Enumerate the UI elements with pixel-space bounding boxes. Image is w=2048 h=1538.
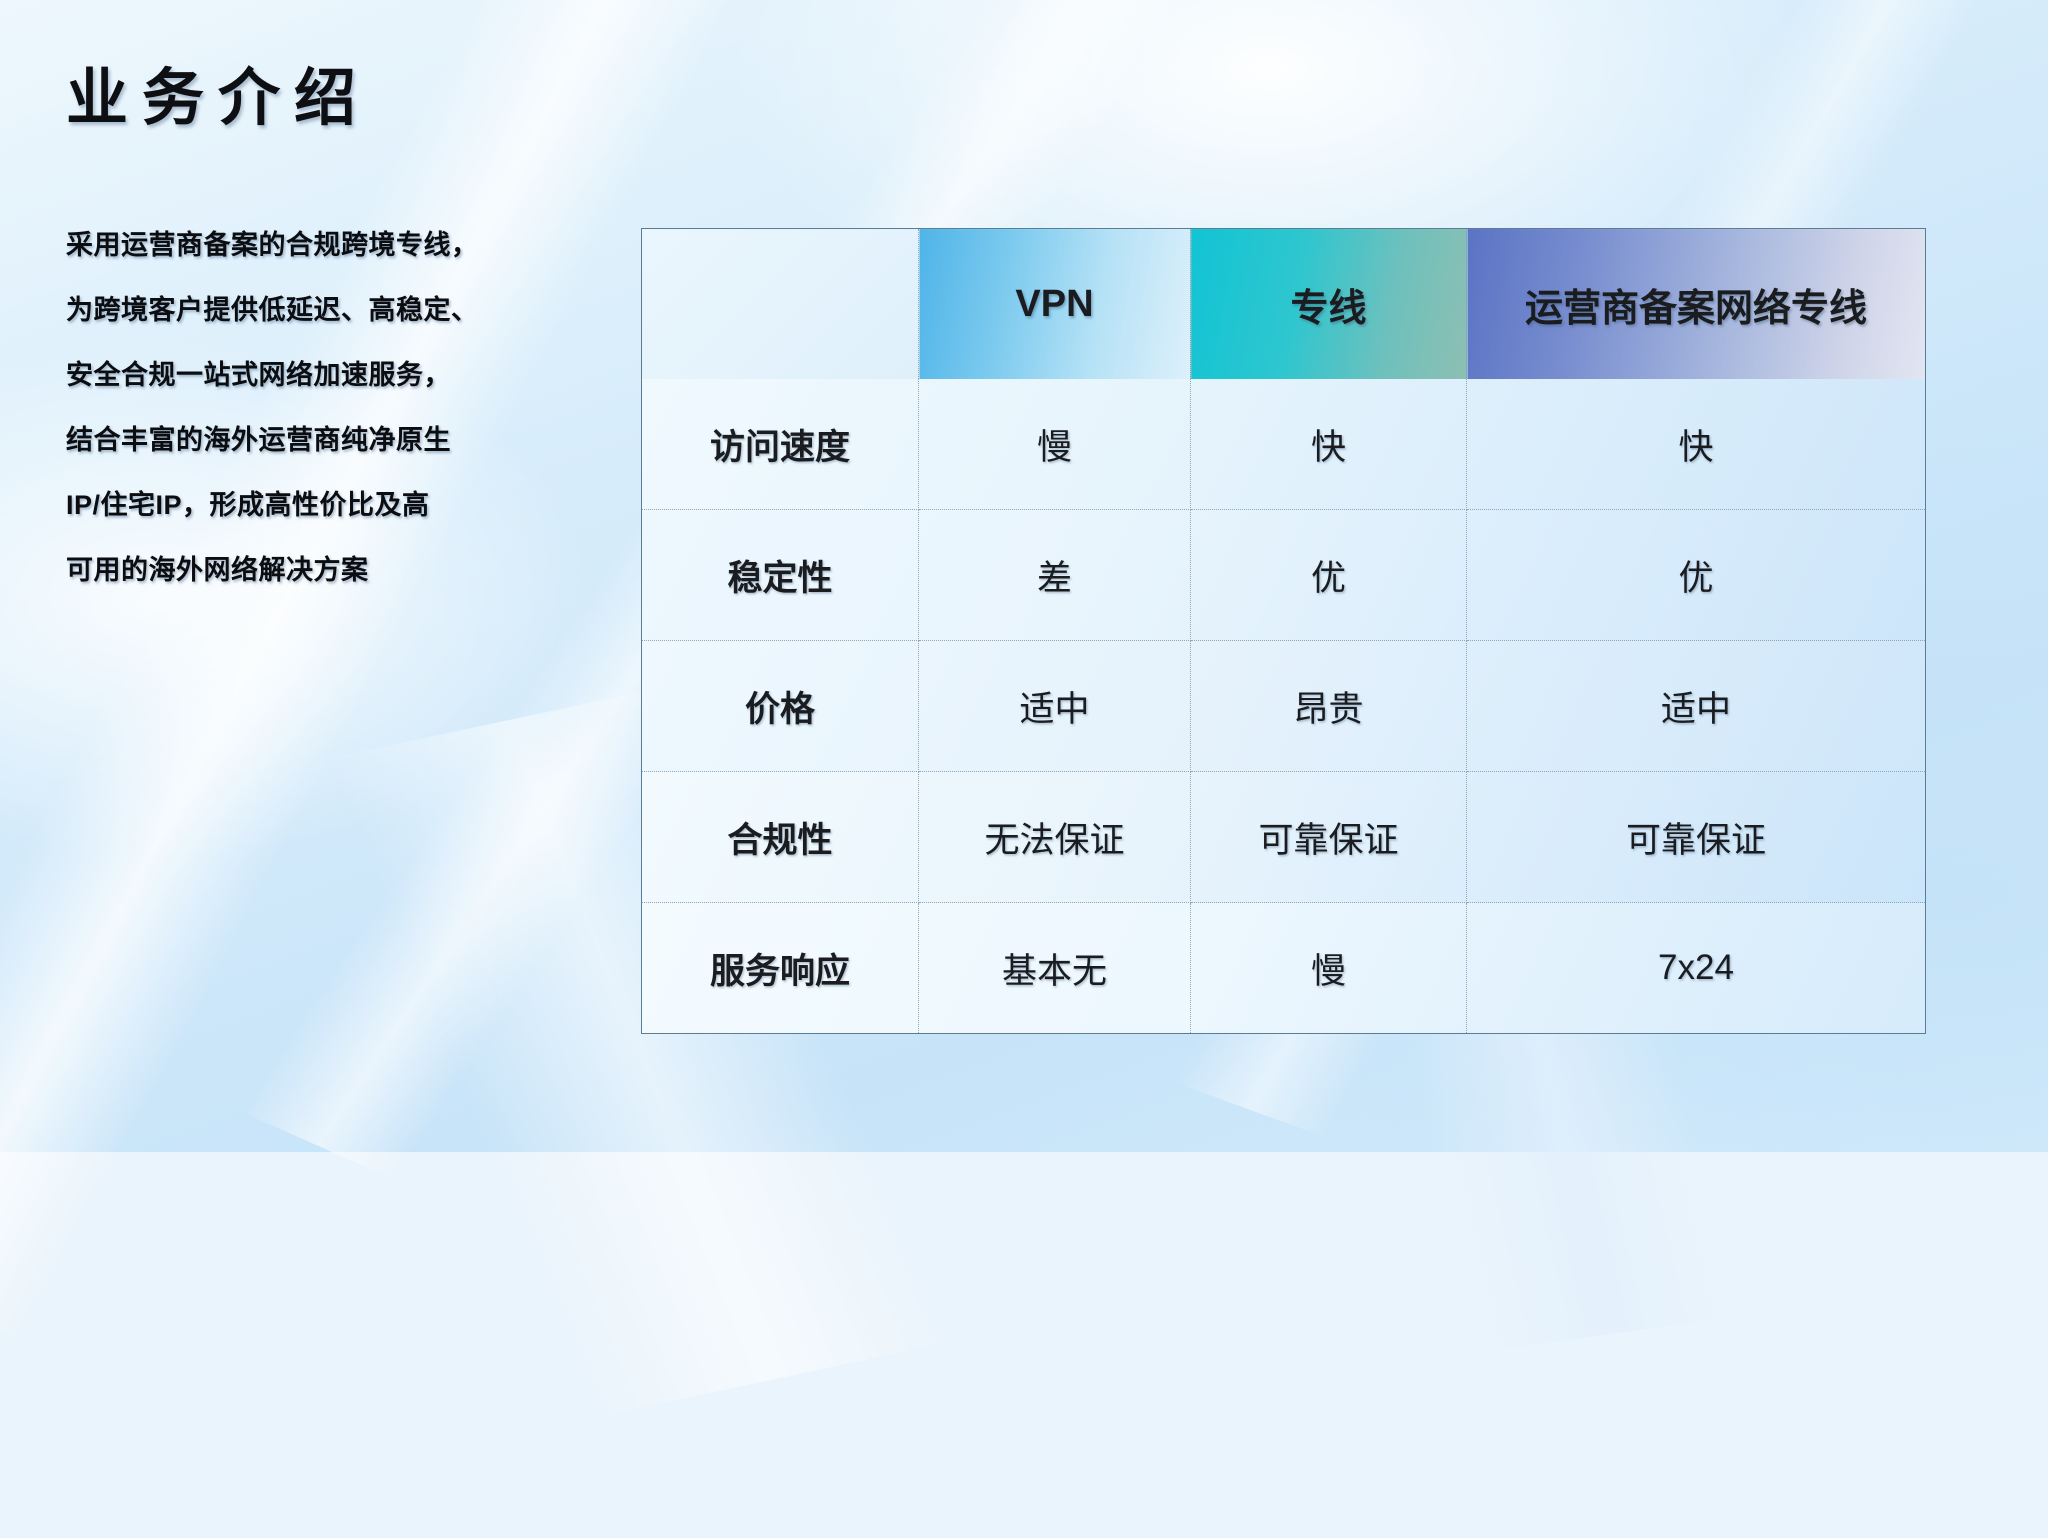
row-label: 合规性 xyxy=(642,772,919,903)
intro-line: 为跨境客户提供低延迟、高稳定、 xyxy=(66,297,626,324)
table-row: 服务响应 基本无 慢 7x24 xyxy=(642,903,1926,1034)
cell-carrier-line: 优 xyxy=(1467,510,1926,641)
row-label: 价格 xyxy=(642,641,919,772)
cell-carrier-line: 适中 xyxy=(1467,641,1926,772)
cell-dedicated-line: 昂贵 xyxy=(1191,641,1467,772)
cell-dedicated-line: 慢 xyxy=(1191,903,1467,1034)
intro-line: 可用的海外网络解决方案 xyxy=(66,557,626,584)
table-row: 价格 适中 昂贵 适中 xyxy=(642,641,1926,772)
table-row: 稳定性 差 优 优 xyxy=(642,510,1926,641)
row-label: 访问速度 xyxy=(642,379,919,510)
table-header: VPN 专线 运营商备案网络专线 xyxy=(642,229,1926,380)
table-header-vpn: VPN xyxy=(919,229,1191,380)
comparison-table-wrapper: VPN 专线 运营商备案网络专线 访问速度 慢 快 快 稳定性 差 优 优 xyxy=(641,228,1925,1018)
comparison-table: VPN 专线 运营商备案网络专线 访问速度 慢 快 快 稳定性 差 优 优 xyxy=(641,228,1926,1034)
cell-vpn: 基本无 xyxy=(919,903,1191,1034)
cell-carrier-line: 7x24 xyxy=(1467,903,1926,1034)
cell-vpn: 无法保证 xyxy=(919,772,1191,903)
table-header-corner xyxy=(642,229,919,380)
slide-content: 业务介绍 采用运营商备案的合规跨境专线， 为跨境客户提供低延迟、高稳定、 安全合… xyxy=(0,0,2048,1152)
row-label: 服务响应 xyxy=(642,903,919,1034)
cell-dedicated-line: 优 xyxy=(1191,510,1467,641)
intro-line: IP/住宅IP，形成高性价比及高 xyxy=(66,492,626,519)
table-header-dedicated-line: 专线 xyxy=(1191,229,1467,380)
cell-dedicated-line: 快 xyxy=(1191,379,1467,510)
table-header-carrier-line: 运营商备案网络专线 xyxy=(1467,229,1926,380)
intro-line: 采用运营商备案的合规跨境专线， xyxy=(66,232,626,259)
intro-paragraph: 采用运营商备案的合规跨境专线， 为跨境客户提供低延迟、高稳定、 安全合规一站式网… xyxy=(66,232,626,622)
row-label: 稳定性 xyxy=(642,510,919,641)
cell-vpn: 慢 xyxy=(919,379,1191,510)
cell-carrier-line: 快 xyxy=(1467,379,1926,510)
intro-line: 安全合规一站式网络加速服务， xyxy=(66,362,626,389)
page-title: 业务介绍 xyxy=(66,68,370,130)
cell-dedicated-line: 可靠保证 xyxy=(1191,772,1467,903)
table-row: 合规性 无法保证 可靠保证 可靠保证 xyxy=(642,772,1926,903)
intro-line: 结合丰富的海外运营商纯净原生 xyxy=(66,427,626,454)
table-row: 访问速度 慢 快 快 xyxy=(642,379,1926,510)
cell-vpn: 差 xyxy=(919,510,1191,641)
cell-carrier-line: 可靠保证 xyxy=(1467,772,1926,903)
table-body: 访问速度 慢 快 快 稳定性 差 优 优 价格 适中 昂贵 适中 xyxy=(642,379,1926,1034)
table-header-row: VPN 专线 运营商备案网络专线 xyxy=(642,229,1926,380)
cell-vpn: 适中 xyxy=(919,641,1191,772)
